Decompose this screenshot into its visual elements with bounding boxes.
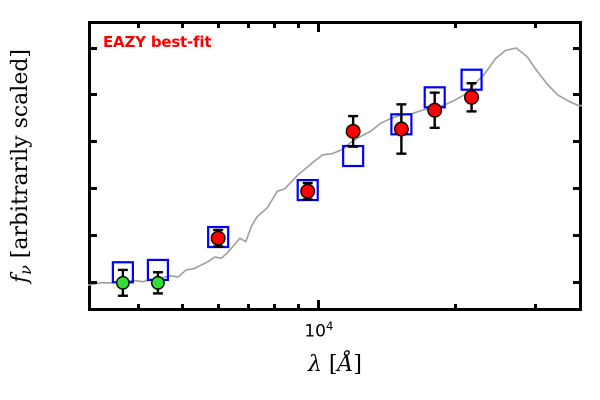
x-tick-minor-bottom bbox=[217, 304, 220, 311]
y-tick-right bbox=[573, 234, 582, 237]
x-axis-label: λ [Å] bbox=[88, 352, 582, 377]
y-tick-left bbox=[88, 47, 97, 50]
x-tick-minor-top bbox=[247, 21, 250, 28]
y-tick-left bbox=[88, 187, 97, 190]
annotation-eazy-best-fit: EAZY best-fit bbox=[103, 33, 211, 51]
x-tick-major-bottom bbox=[317, 300, 320, 311]
photometry-point bbox=[117, 270, 129, 296]
x-tick-minor-bottom bbox=[454, 304, 457, 311]
detection-marker bbox=[428, 103, 442, 117]
y-tick-right bbox=[573, 47, 582, 50]
x-tick-minor-top bbox=[297, 21, 300, 28]
x-tick-minor-bottom bbox=[273, 304, 276, 311]
plot-canvas bbox=[88, 21, 582, 311]
x-tick-minor-top bbox=[534, 21, 537, 28]
y-tick-left bbox=[88, 140, 97, 143]
photometry-point bbox=[301, 183, 315, 199]
x-tick-minor-bottom bbox=[534, 304, 537, 311]
photometry-point bbox=[395, 104, 409, 153]
photometry-point bbox=[428, 93, 442, 128]
detection-marker bbox=[301, 184, 315, 198]
x-tick-major-top bbox=[317, 21, 320, 32]
x-tick-minor-bottom bbox=[181, 304, 184, 311]
detection-marker bbox=[395, 122, 409, 136]
nondetection-marker bbox=[152, 277, 164, 289]
y-axis-label: fν [arbitrarily scaled] bbox=[8, 21, 35, 311]
x-tick-minor-top bbox=[217, 21, 220, 28]
y-tick-left bbox=[88, 234, 97, 237]
model-flux-square bbox=[343, 146, 363, 166]
x-tick-minor-top bbox=[454, 21, 457, 28]
nondetection-marker bbox=[117, 277, 129, 289]
x-tick-minor-bottom bbox=[247, 304, 250, 311]
detection-marker bbox=[346, 125, 360, 139]
photometry-point bbox=[465, 83, 479, 111]
x-tick-label: 104 bbox=[293, 321, 345, 341]
spectrum-curve bbox=[88, 48, 582, 285]
photometry-point bbox=[152, 272, 164, 293]
sed-figure: fν [arbitrarily scaled] λ [Å] 0.00.20.40… bbox=[0, 0, 600, 400]
x-tick-minor-top bbox=[181, 21, 184, 28]
y-tick-right bbox=[573, 187, 582, 190]
y-tick-right bbox=[573, 140, 582, 143]
x-tick-minor-top bbox=[137, 21, 140, 28]
x-tick-minor-bottom bbox=[297, 304, 300, 311]
x-tick-minor-top bbox=[273, 21, 276, 28]
y-tick-right bbox=[573, 281, 582, 284]
y-tick-left bbox=[88, 93, 97, 96]
y-tick-left bbox=[88, 281, 97, 284]
y-tick-right bbox=[573, 93, 582, 96]
plot-area: 0.00.20.40.60.81.0104 bbox=[88, 21, 582, 311]
photometry-point bbox=[346, 116, 360, 147]
detection-marker bbox=[211, 231, 225, 245]
x-tick-minor-bottom bbox=[137, 304, 140, 311]
photometry-point bbox=[211, 230, 225, 246]
detection-marker bbox=[465, 91, 479, 105]
